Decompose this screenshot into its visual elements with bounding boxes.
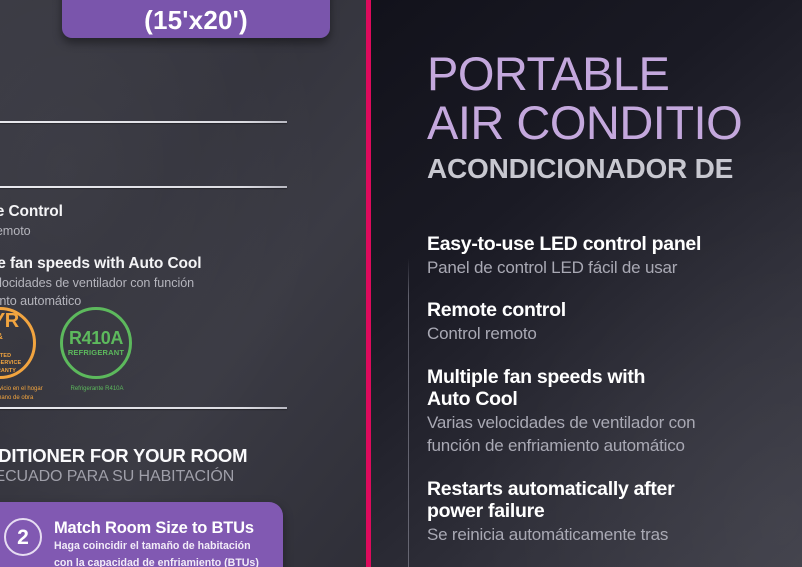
right-feature-title-es: Varias velocidades de ventilador con: [427, 413, 802, 433]
right-panel: PORTABLE AIR CONDITIO ACONDICIONADOR DE …: [371, 0, 802, 567]
step-card-2: 2 Match Room Size to BTUs Haga coincidir…: [0, 502, 283, 567]
product-title-line2: AIR CONDITIO: [427, 101, 742, 146]
product-title-line1: PORTABLE: [427, 52, 742, 97]
product-subtitle-es: ACONDICIONADOR DE: [427, 155, 742, 183]
divider-rule-middle: [0, 186, 287, 188]
refrigerant-caption: Refrigerante R410A: [60, 385, 134, 394]
certification-badges: 1YR PARTS & LABOR LIMITED HOME SERVICE W…: [0, 307, 134, 403]
warranty-fine-1: LIMITED: [0, 353, 11, 359]
right-feature-title-en-cont: power failure: [427, 500, 802, 522]
room-size-label: (15'x20'): [144, 7, 248, 33]
right-feature-title-en: Remote control: [427, 299, 802, 321]
right-feature-title-en: Restarts automatically after: [427, 478, 802, 500]
warranty-fine-2: HOME SERVICE: [0, 360, 21, 366]
left-heading-en: ...ONDITIONER FOR YOUR ROOM: [0, 446, 296, 465]
right-feature-title-es: Panel de control LED fácil de usar: [427, 258, 802, 278]
left-panel: (15'x20') Remote Control Control remoto …: [0, 0, 368, 567]
warranty-caption-1: ...tada de servicio en el hogar: [0, 386, 43, 392]
feature-title-en: Multiple fan speeds with Auto Cool: [0, 255, 278, 273]
step-card-text: Match Room Size to BTUs Haga coincidir e…: [54, 518, 259, 567]
right-feature-list: Easy-to-use LED control panel Panel de c…: [427, 233, 802, 566]
right-feature-title-es-cont: función de enfriamiento automático: [427, 436, 802, 456]
divider-rule-top: [0, 121, 287, 123]
warranty-badge-group: 1YR PARTS & LABOR LIMITED HOME SERVICE W…: [0, 307, 38, 403]
divider-rule-bottom: [0, 407, 287, 409]
right-feature-title-en: Easy-to-use LED control panel: [427, 233, 802, 255]
refrigerant-badge-group: R410A REFRIGERANT Refrigerante R410A: [60, 307, 134, 394]
right-feature-title-es: Control remoto: [427, 324, 802, 344]
warranty-caption: ...tada de servicio en el hogar ...puest…: [0, 385, 64, 403]
step-title-en: Match Room Size to BTUs: [54, 519, 259, 537]
warranty-badge-icon: 1YR PARTS & LABOR LIMITED HOME SERVICE W…: [0, 307, 36, 379]
refrigerant-badge-icon: R410A REFRIGERANT: [60, 307, 132, 379]
left-section-heading: ...ONDITIONER FOR YOUR ROOM ... ADECUADO…: [0, 446, 296, 486]
right-panel-faint-rule: [408, 258, 409, 567]
step-title-es-cont: con la capacidad de enfriamiento (BTUs): [54, 557, 259, 567]
refrigerant-label: REFRIGERANT: [68, 348, 124, 357]
warranty-years: 1YR: [0, 311, 19, 331]
warranty-fine-3: WARRANTY: [0, 368, 16, 374]
right-feature-title-en: Multiple fan speeds with: [427, 366, 802, 388]
left-heading-es: ... ADECUADO PARA SU HABITACIÓN: [0, 468, 296, 486]
feature-title-es: Varias velocidades de ventilador con fun…: [0, 275, 278, 291]
refrigerant-type: R410A: [69, 329, 123, 347]
right-feature-item: Easy-to-use LED control panel Panel de c…: [427, 233, 802, 278]
right-feature-item: Multiple fan speeds with Auto Cool Varia…: [427, 366, 802, 457]
room-size-chip: (15'x20'): [62, 0, 330, 38]
right-feature-title-en-cont: Auto Cool: [427, 388, 802, 410]
feature-title-es: Control remoto: [0, 223, 278, 239]
right-feature-item: Remote control Control remoto: [427, 299, 802, 344]
warranty-fineprint: LIMITED HOME SERVICE WARRANTY: [0, 353, 21, 375]
product-infographic-page: (15'x20') Remote Control Control remoto …: [0, 0, 802, 567]
left-feature-item: Remote Control Control remoto: [0, 203, 278, 239]
warranty-scope: PARTS & LABOR: [0, 332, 33, 350]
step-number-badge: 2: [4, 518, 42, 556]
product-title-block: PORTABLE AIR CONDITIO ACONDICIONADOR DE: [427, 52, 742, 183]
warranty-caption-2: ...puestos y mano de obra: [0, 395, 33, 401]
left-feature-item: Multiple fan speeds with Auto Cool Varia…: [0, 255, 278, 309]
feature-title-en: Remote Control: [0, 203, 278, 221]
step-title-es: Haga coincidir el tamaño de habitación: [54, 540, 259, 554]
right-feature-item: Restarts automatically after power failu…: [427, 478, 802, 545]
right-feature-title-es: Se reinicia automáticamente tras: [427, 525, 802, 545]
magenta-vertical-divider: [366, 0, 371, 567]
